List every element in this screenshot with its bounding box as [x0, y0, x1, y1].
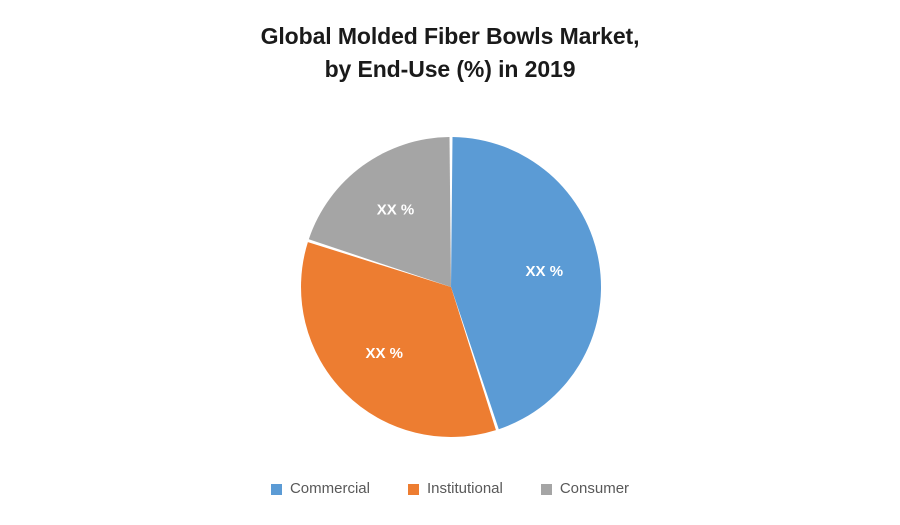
pie-slice-label-consumer: XX % — [377, 201, 415, 218]
legend-item-institutional[interactable]: Institutional — [408, 480, 503, 498]
pie-svg: XX %XX %XX % — [0, 0, 900, 470]
legend-item-label: Institutional — [427, 480, 503, 498]
pie-slice-label-institutional: XX % — [365, 345, 403, 362]
pie-slice-group — [301, 137, 601, 437]
legend-item-label: Consumer — [560, 480, 629, 498]
legend-item-consumer[interactable]: Consumer — [541, 480, 629, 498]
chart-legend: CommercialInstitutionalConsumer — [0, 480, 900, 498]
legend-item-label: Commercial — [290, 480, 370, 498]
legend-swatch-icon — [408, 484, 419, 495]
legend-item-commercial[interactable]: Commercial — [271, 480, 370, 498]
plot-area: XX %XX %XX % — [0, 0, 900, 470]
pie-chart-figure: Global Molded Fiber Bowls Market, by End… — [0, 0, 900, 525]
legend-swatch-icon — [541, 484, 552, 495]
pie-slice-label-commercial: XX % — [526, 263, 564, 280]
legend-swatch-icon — [271, 484, 282, 495]
